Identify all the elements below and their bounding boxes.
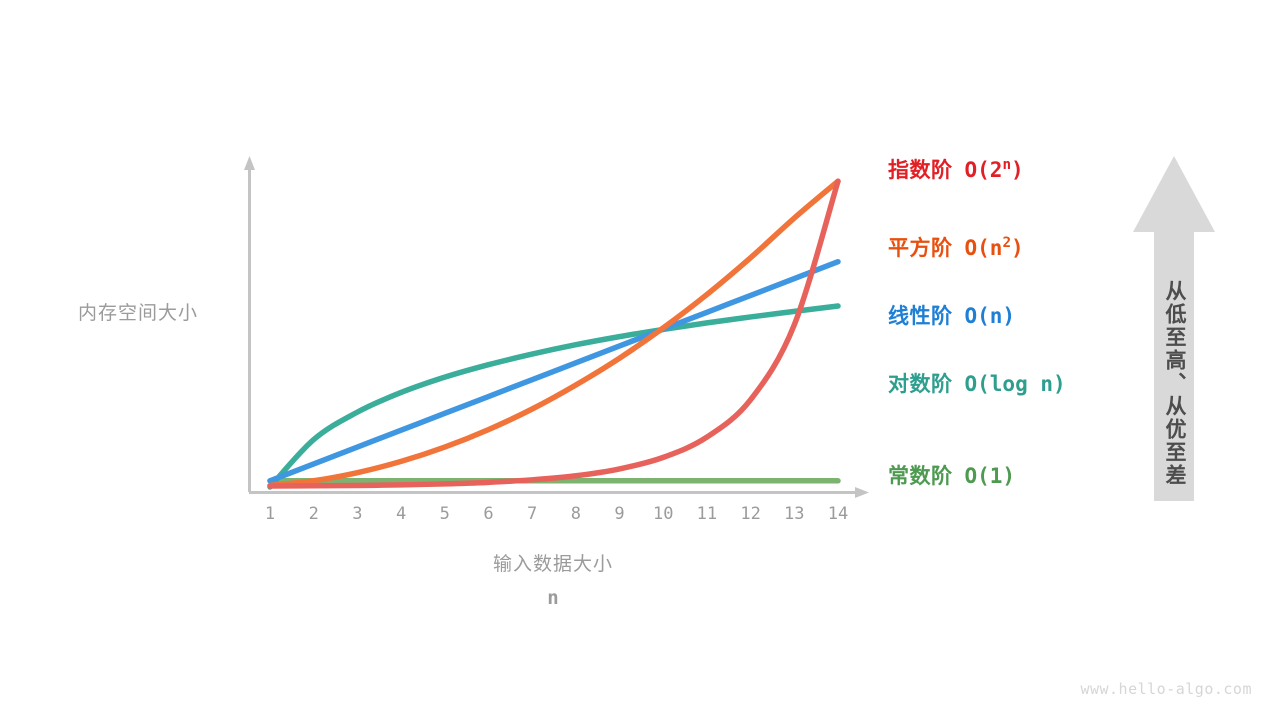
legend-item-name: 指数阶 <box>888 159 953 182</box>
legend: 指数阶O(2n)平方阶O(n2)线性阶O(n)对数阶O(log n)常数阶O(1… <box>888 150 1118 510</box>
x-tick-11: 11 <box>697 504 717 524</box>
x-tick-2: 2 <box>309 504 319 524</box>
legend-item-notation: O(n) <box>965 304 1016 328</box>
direction-arrow-icon <box>1133 156 1215 501</box>
complexity-growth-figure: 1234567891011121314 内存空间大小 输入数据大小 n 指数阶O… <box>0 0 1280 720</box>
x-tick-1: 1 <box>265 504 275 524</box>
x-tick-5: 5 <box>440 504 450 524</box>
x-axis-variable: n <box>547 587 558 609</box>
legend-item-notation: O(1) <box>965 464 1016 488</box>
series-line-平方阶 <box>270 181 838 485</box>
x-tick-8: 8 <box>571 504 581 524</box>
x-tick-3: 3 <box>352 504 362 524</box>
series-line-指数阶 <box>270 181 838 486</box>
legend-item-4[interactable]: 常数阶O(1) <box>888 466 1015 487</box>
x-tick-13: 13 <box>784 504 804 524</box>
y-axis <box>244 156 255 492</box>
x-axis-title: 输入数据大小 <box>493 549 613 576</box>
legend-item-name: 线性阶 <box>888 305 953 328</box>
legend-item-name: 常数阶 <box>888 465 953 488</box>
x-tick-9: 9 <box>614 504 624 524</box>
series-line-线性阶 <box>270 262 838 481</box>
legend-item-name: 平方阶 <box>888 237 953 260</box>
legend-item-notation: O(2n) <box>965 158 1024 182</box>
y-axis-title: 内存空间大小 <box>78 298 198 325</box>
legend-item-0[interactable]: 指数阶O(2n) <box>888 160 1024 181</box>
x-axis <box>249 487 869 498</box>
x-tick-12: 12 <box>740 504 760 524</box>
legend-item-notation: O(log n) <box>965 372 1066 396</box>
legend-item-name: 对数阶 <box>888 373 953 396</box>
x-tick-7: 7 <box>527 504 537 524</box>
series-curves <box>270 181 838 487</box>
x-tick-10: 10 <box>653 504 673 524</box>
x-tick-14: 14 <box>828 504 848 524</box>
watermark: www.hello-algo.com <box>1080 680 1252 698</box>
legend-item-2[interactable]: 线性阶O(n) <box>888 306 1015 327</box>
legend-item-3[interactable]: 对数阶O(log n) <box>888 374 1066 395</box>
x-tick-6: 6 <box>483 504 493 524</box>
legend-item-notation: O(n2) <box>965 236 1024 260</box>
x-tick-4: 4 <box>396 504 406 524</box>
legend-item-1[interactable]: 平方阶O(n2) <box>888 238 1024 259</box>
x-tick-labels: 1234567891011121314 <box>249 504 849 532</box>
